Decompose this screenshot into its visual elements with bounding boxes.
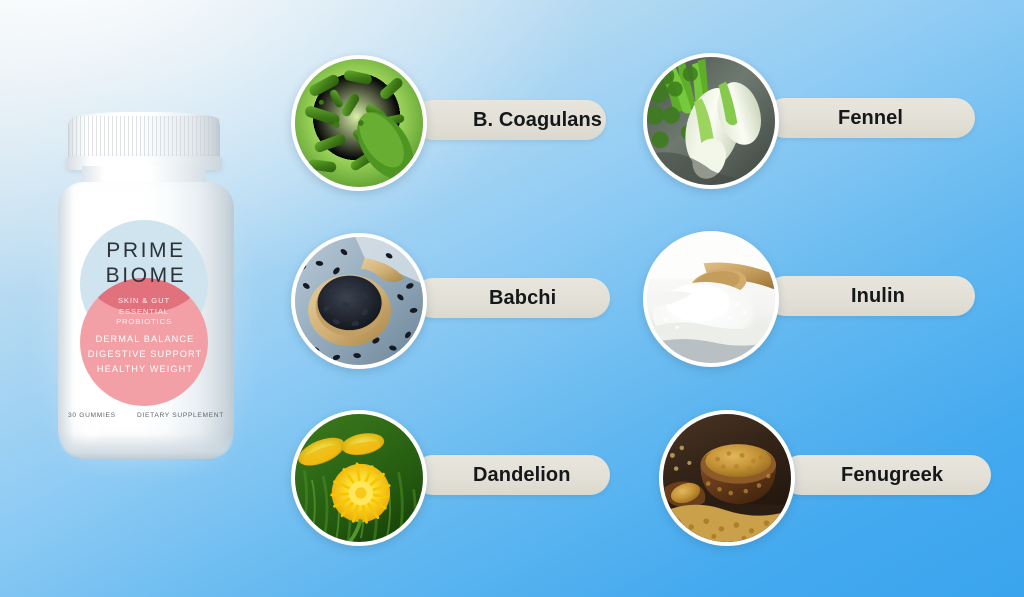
b-coagulans-icon [291,55,427,191]
ingredient-name: Fennel [838,107,903,130]
ingredient-name: Dandelion [473,464,571,487]
gummy-count: 30 GUMMIES [68,412,116,419]
supplement-class: DIETARY SUPPLEMENT [137,412,224,419]
ingredient-infographic: PRIME BIOME SKIN & GUT ESSENTIAL PROBIOT… [0,0,1024,597]
ingredient-name: B. Coagulans [473,109,602,132]
ingredient-label-pill: Fenugreek [781,455,991,495]
bottle-label: PRIME BIOME SKIN & GUT ESSENTIAL PROBIOT… [62,220,230,438]
brand-name: PRIME BIOME [62,238,230,288]
product-tagline: SKIN & GUT ESSENTIAL PROBIOTICS [80,296,208,328]
dandelion-icon [291,410,427,546]
benefit-digestive-support: DIGESTIVE SUPPORT [70,347,220,362]
inulin-icon [643,231,779,367]
fenugreek-icon [659,410,795,546]
brand-line-2: BIOME [62,263,230,288]
fennel-icon [643,53,779,189]
ingredient-label-pill: Babchi [413,278,610,318]
product-benefits: DERMAL BALANCE DIGESTIVE SUPPORT HEALTHY… [70,332,220,377]
benefit-dermal-balance: DERMAL BALANCE [70,332,220,347]
ingredient-name: Babchi [489,287,556,310]
tagline-line-1: SKIN & GUT [80,296,208,307]
brand-line-1: PRIME [62,238,230,263]
ingredient-label-pill: Dandelion [413,455,610,495]
label-footer: 30 GUMMIES DIETARY SUPPLEMENT [62,412,230,419]
ingredient-label-pill: B. Coagulans [413,100,606,140]
ingredient-label-pill: Fennel [765,98,975,138]
benefit-healthy-weight: HEALTHY WEIGHT [70,362,220,377]
ingredient-name: Inulin [851,285,905,308]
ingredient-name: Fenugreek [841,464,943,487]
ingredient-label-pill: Inulin [765,276,975,316]
product-bottle: PRIME BIOME SKIN & GUT ESSENTIAL PROBIOT… [48,108,244,468]
tagline-line-3: PROBIOTICS [80,317,208,328]
tagline-line-2: ESSENTIAL [80,307,208,318]
babchi-icon [291,233,427,369]
